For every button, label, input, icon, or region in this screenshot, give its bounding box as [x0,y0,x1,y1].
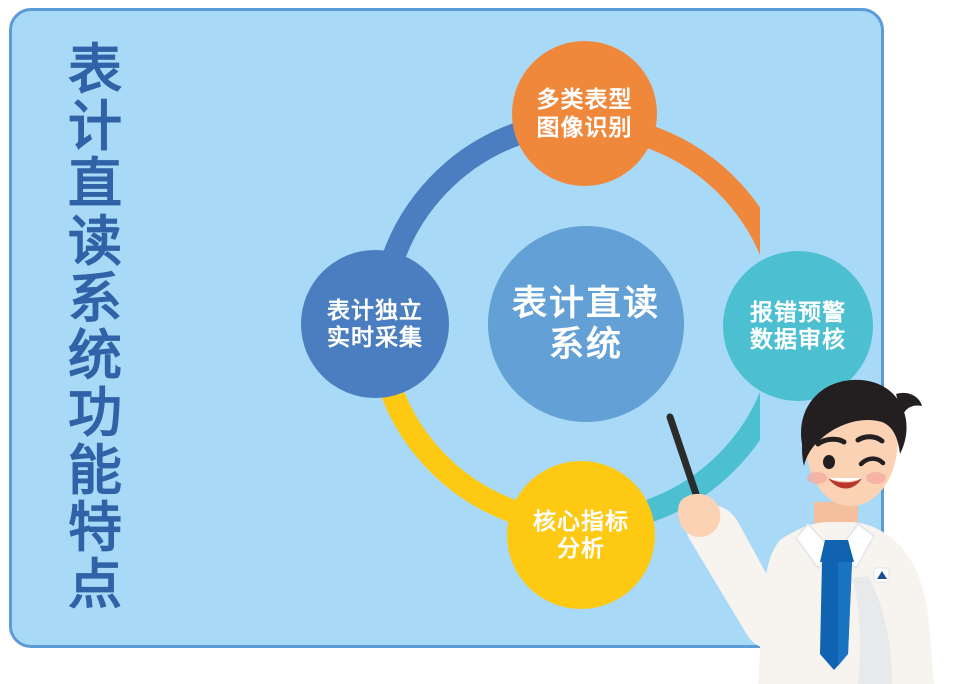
diagram-node-center[interactable]: 表计直读 系统 [488,226,684,422]
title-char: 系 [68,271,122,328]
pointer-stick-icon [670,417,698,500]
node-center-line1: 表计直读 [512,283,660,324]
node-right-line1: 报错预警 [750,299,846,326]
presenter-illustration [662,372,968,684]
arc-bottom-to-left [389,384,515,512]
node-center-line2: 系统 [549,324,623,365]
arc-top-to-right [653,138,760,275]
title-char: 直 [68,156,122,213]
shirt-logo-icon [874,568,889,582]
arc-left-to-top [390,134,517,268]
page-title: 表 计 直 读 系 统 功 能 特 点 [52,42,138,602]
title-char: 功 [68,385,122,442]
presenter-cheek-right [866,472,886,484]
infographic-canvas: 表 计 直 读 系 统 功 能 特 点 表计直读 系统 [0,0,968,684]
title-char: 表 [68,42,122,99]
node-left-line2: 实时采集 [327,324,423,351]
diagram-node-left[interactable]: 表计独立 实时采集 [301,250,449,398]
title-char: 统 [68,328,122,385]
title-char: 能 [68,443,122,500]
presenter-hand [678,494,720,537]
presenter-cheek-left [807,472,827,484]
title-char: 计 [68,99,122,156]
presenter-eye-open [823,455,835,469]
node-top-line1: 多类表型 [537,86,633,113]
node-bottom-line1: 核心指标 [533,508,629,535]
node-bottom-line2: 分析 [557,535,605,562]
title-char: 点 [68,557,122,614]
node-top-line2: 图像识别 [537,114,633,141]
diagram-node-top[interactable]: 多类表型 图像识别 [512,41,657,186]
title-char: 读 [68,214,122,271]
diagram-node-bottom[interactable]: 核心指标 分析 [507,461,655,609]
title-char: 特 [68,500,122,557]
node-left-line1: 表计独立 [327,297,423,324]
node-right-line2: 数据审核 [750,326,846,353]
